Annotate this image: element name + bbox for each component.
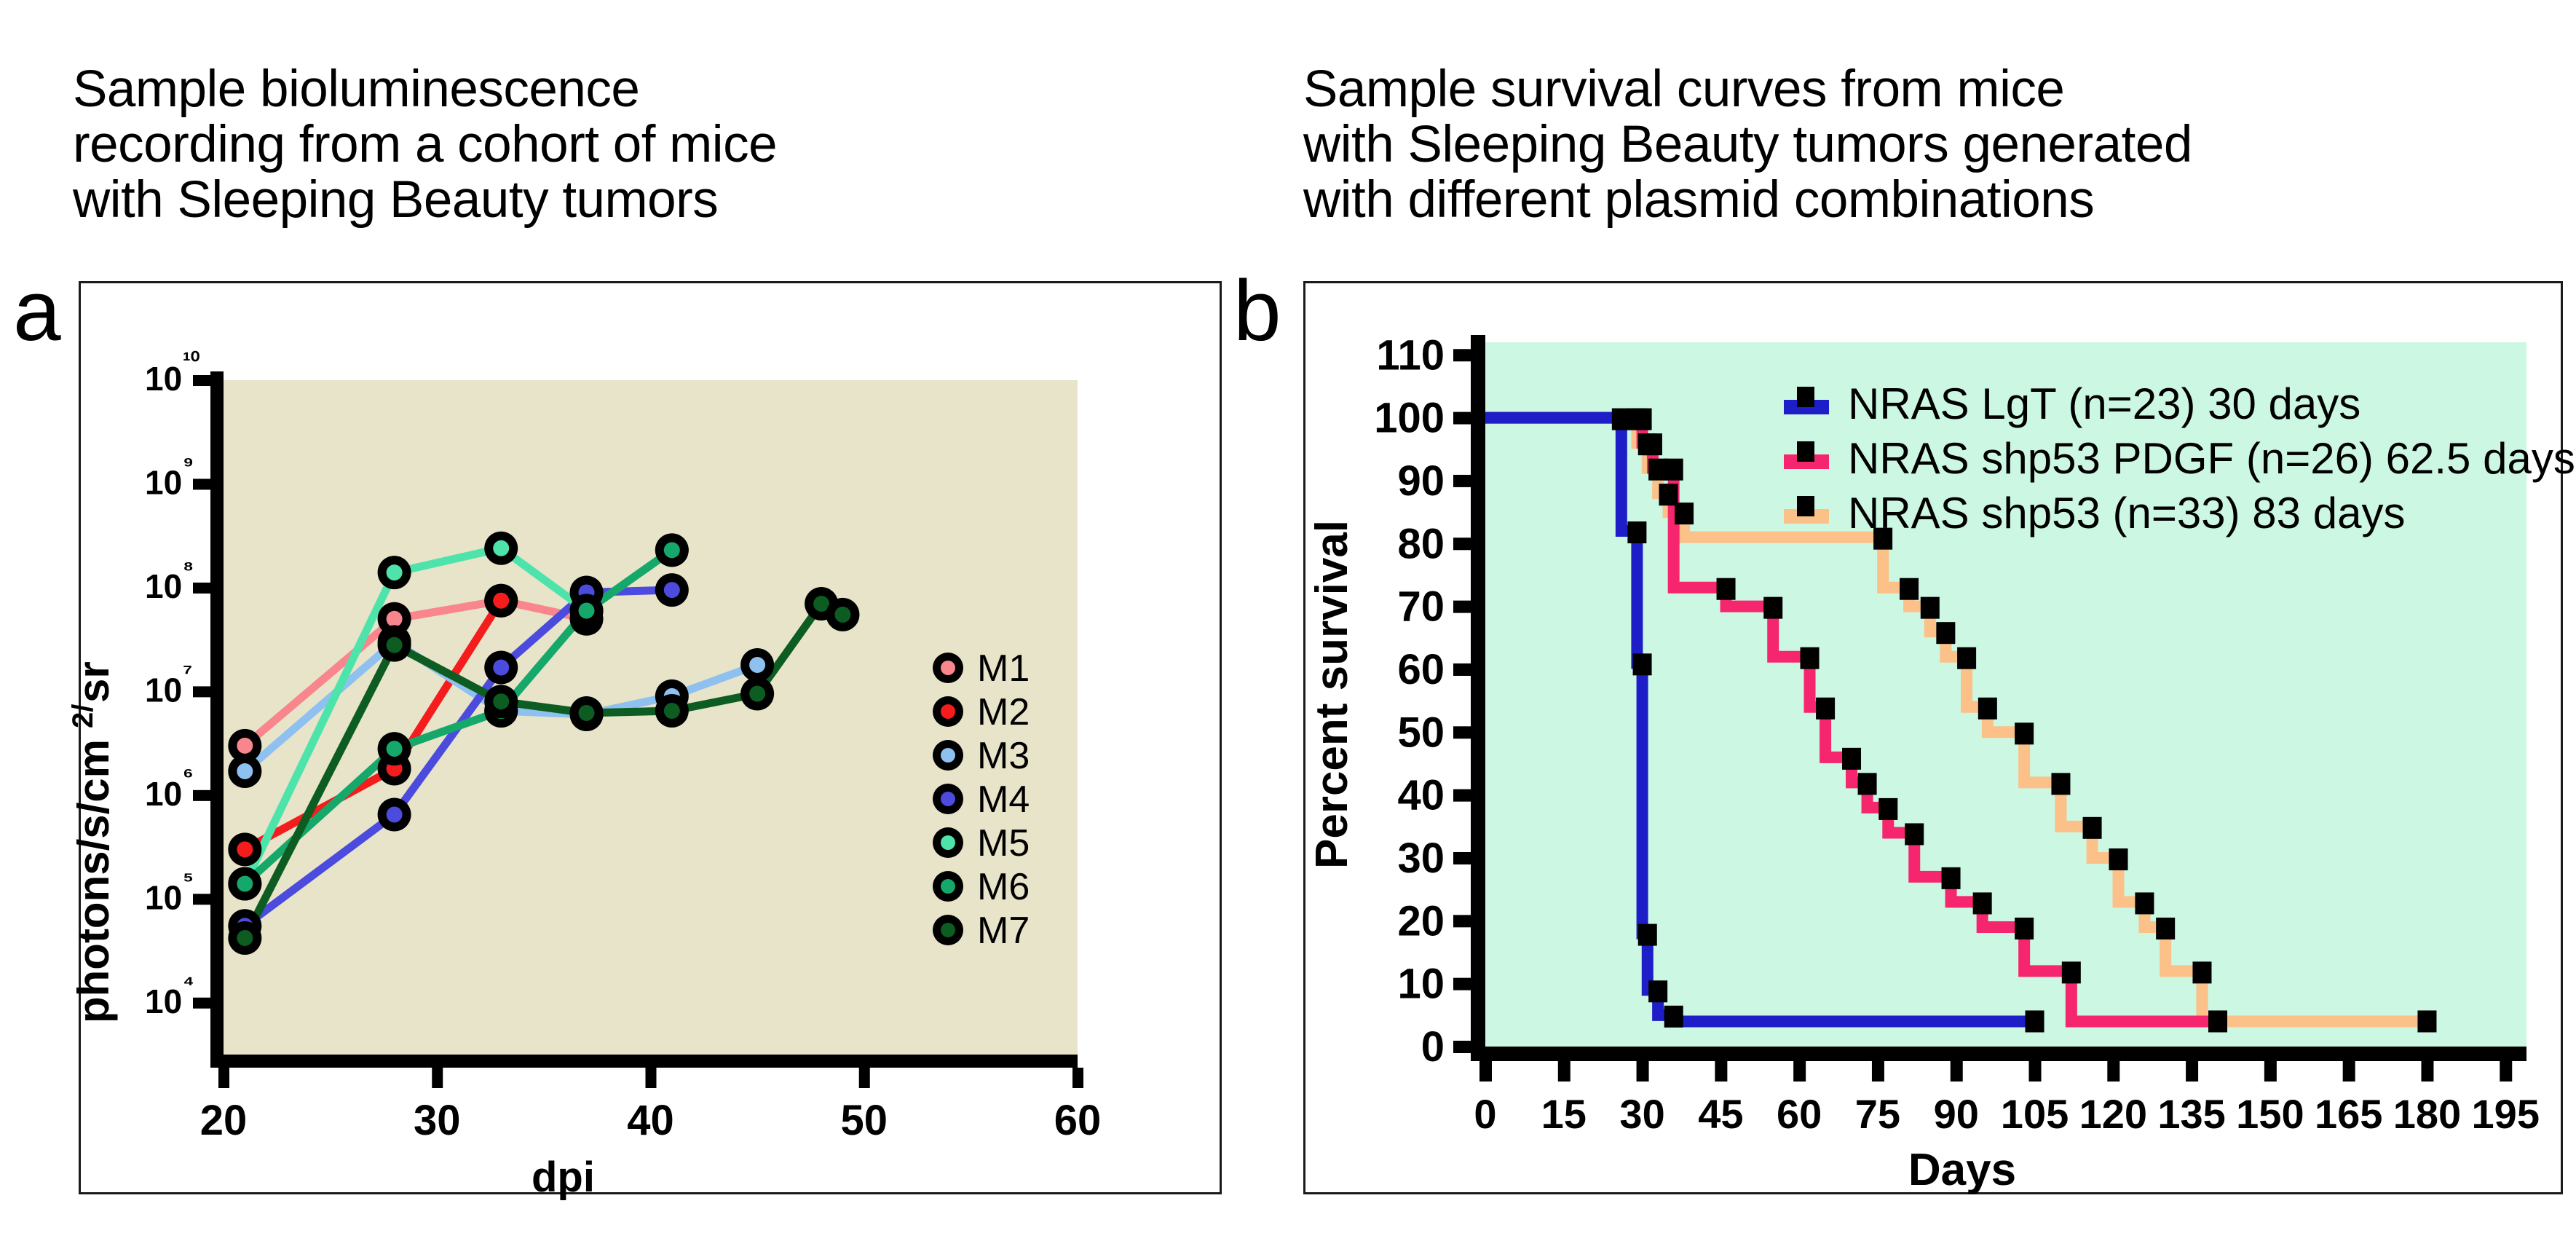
event-tick-NRAS shp53 PDGF [1633,409,1652,430]
censor-tick-NRAS LgT [2026,1010,2044,1032]
y-tick-label: 80 [1397,520,1445,567]
x-tick-label: 195 [2472,1091,2540,1137]
y-tick-mark [1453,789,1471,802]
event-tick-NRAS shp53 [1978,698,1997,720]
x-tick-mark [2029,1061,2042,1082]
event-tick-NRAS shp53 [1936,622,1955,644]
event-tick-NRAS shp53 [2109,848,2127,870]
x-tick-mark [1479,1061,1492,1082]
event-tick-NRAS shp53 [2051,773,2070,795]
y-tick-mark [1453,726,1471,738]
y-axis-title: Percent survival [1307,520,1357,869]
y-tick-mark [1453,412,1471,425]
x-tick-mark [1951,1061,1963,1082]
y-tick-label: 90 [1397,457,1445,505]
event-tick-NRAS shp53 [2156,918,2175,939]
x-tick-mark [2343,1061,2355,1082]
y-tick-mark [1453,1041,1471,1053]
event-tick-NRAS LgT [1633,653,1652,675]
x-tick-mark [1872,1061,1884,1082]
censor-tick-NRAS shp53 [2417,1010,2436,1032]
y-tick-label: 70 [1397,583,1445,631]
y-tick-mark [1453,915,1471,927]
y-tick-label: 50 [1397,709,1445,756]
event-tick-NRAS shp53 PDGF [1905,823,1924,845]
x-tick-label: 105 [2001,1091,2069,1137]
event-tick-NRAS shp53 PDGF [1801,647,1820,669]
legend-label: NRAS shp53 (n=33) 83 days [1848,489,2405,537]
x-tick-label: 30 [1619,1091,1664,1137]
event-tick-NRAS shp53 PDGF [1717,578,1736,600]
x-tick-mark [1715,1061,1727,1082]
x-tick-mark [1793,1061,1806,1082]
y-tick-label: 40 [1397,772,1445,819]
event-tick-NRAS LgT [1627,521,1646,543]
event-tick-NRAS shp53 PDGF [1643,433,1662,455]
event-tick-NRAS shp53 [1900,578,1919,600]
x-tick-label: 165 [2315,1091,2382,1137]
legend-item-NRAS LgT (n=23) 30 days: NRAS LgT (n=23) 30 days [1784,379,2360,428]
legend-label: NRAS LgT (n=23) 30 days [1848,379,2360,428]
event-tick-NRAS shp53 PDGF [1858,773,1877,795]
x-tick-mark [2421,1061,2433,1082]
legend-item-NRAS shp53 PDGF (n=26) 62.5 days: NRAS shp53 PDGF (n=26) 62.5 days [1784,434,2575,483]
event-tick-NRAS shp53 PDGF [1878,798,1897,820]
y-tick-mark [1453,349,1471,361]
event-tick-NRAS shp53 [1957,647,1976,669]
y-axis-line [1471,335,1485,1061]
event-tick-NRAS shp53 [2083,817,2102,839]
x-tick-mark [1637,1061,1649,1082]
x-tick-label: 15 [1541,1091,1587,1137]
y-tick-label: 60 [1397,646,1445,693]
x-tick-mark [2107,1061,2119,1082]
y-tick-mark [1453,475,1471,487]
y-tick-label: 20 [1397,897,1445,945]
event-tick-NRAS shp53 [1675,503,1694,524]
x-tick-label: 0 [1474,1091,1496,1137]
x-tick-mark [1558,1061,1571,1082]
x-tick-label: 120 [2079,1091,2147,1137]
x-tick-mark [2264,1061,2277,1082]
y-tick-label: 100 [1374,395,1445,442]
event-tick-NRAS shp53 PDGF [2015,918,2034,939]
x-tick-label: 90 [1934,1091,1979,1137]
x-axis-title: Days [1908,1145,2016,1195]
legend-tick-mark [1797,441,1814,462]
event-tick-NRAS shp53 [1659,484,1678,505]
y-tick-mark [1453,852,1471,864]
y-tick-label: 10 [1397,961,1445,1008]
y-tick-mark [1453,601,1471,613]
event-tick-NRAS shp53 [2135,892,2154,914]
figure-root: Sample bioluminescence recording from a … [0,0,2576,1241]
x-tick-label: 60 [1777,1091,1822,1137]
event-tick-NRAS shp53 [2192,961,2211,983]
x-axis-line [1471,1047,2526,1061]
event-tick-NRAS shp53 PDGF [1763,597,1782,619]
event-tick-NRAS LgT [1612,409,1631,430]
x-tick-label: 180 [2393,1091,2461,1137]
x-tick-label: 75 [1855,1091,1900,1137]
y-tick-label: 30 [1397,835,1445,882]
event-tick-NRAS LgT [1638,924,1657,946]
panel-b-plot: 0102030405060708090100110015304560759010… [0,0,2576,1241]
event-tick-NRAS shp53 PDGF [1664,459,1683,481]
event-tick-NRAS shp53 [1921,597,1940,619]
event-tick-NRAS shp53 PDGF [1973,892,1992,914]
y-axis-title-text: Percent survival [1307,520,1357,869]
event-tick-NRAS shp53 [2015,722,2034,744]
event-tick-NRAS shp53 PDGF [2062,961,2081,983]
y-tick-mark [1453,978,1471,990]
event-tick-NRAS LgT [1664,1006,1683,1028]
legend-tick-mark [1797,496,1814,516]
event-tick-NRAS shp53 PDGF [1942,867,1961,889]
y-tick-label: 110 [1376,331,1445,379]
x-tick-label: 45 [1698,1091,1743,1137]
x-tick-label: 135 [2157,1091,2225,1137]
y-tick-mark [1453,663,1471,676]
legend-tick-mark [1797,387,1814,407]
x-tick-label: 150 [2236,1091,2304,1137]
event-tick-NRAS shp53 PDGF [1842,748,1861,770]
event-tick-NRAS LgT [1648,980,1667,1002]
y-tick-mark [1453,537,1471,550]
x-tick-mark [2500,1061,2512,1082]
censor-tick-NRAS shp53 PDGF [2208,1010,2227,1032]
legend-item-NRAS shp53 (n=33) 83 days: NRAS shp53 (n=33) 83 days [1784,489,2405,537]
y-tick-label: 0 [1421,1023,1445,1071]
x-tick-mark [2186,1061,2198,1082]
event-tick-NRAS shp53 PDGF [1816,698,1835,720]
legend-label: NRAS shp53 PDGF (n=26) 62.5 days [1848,434,2575,483]
